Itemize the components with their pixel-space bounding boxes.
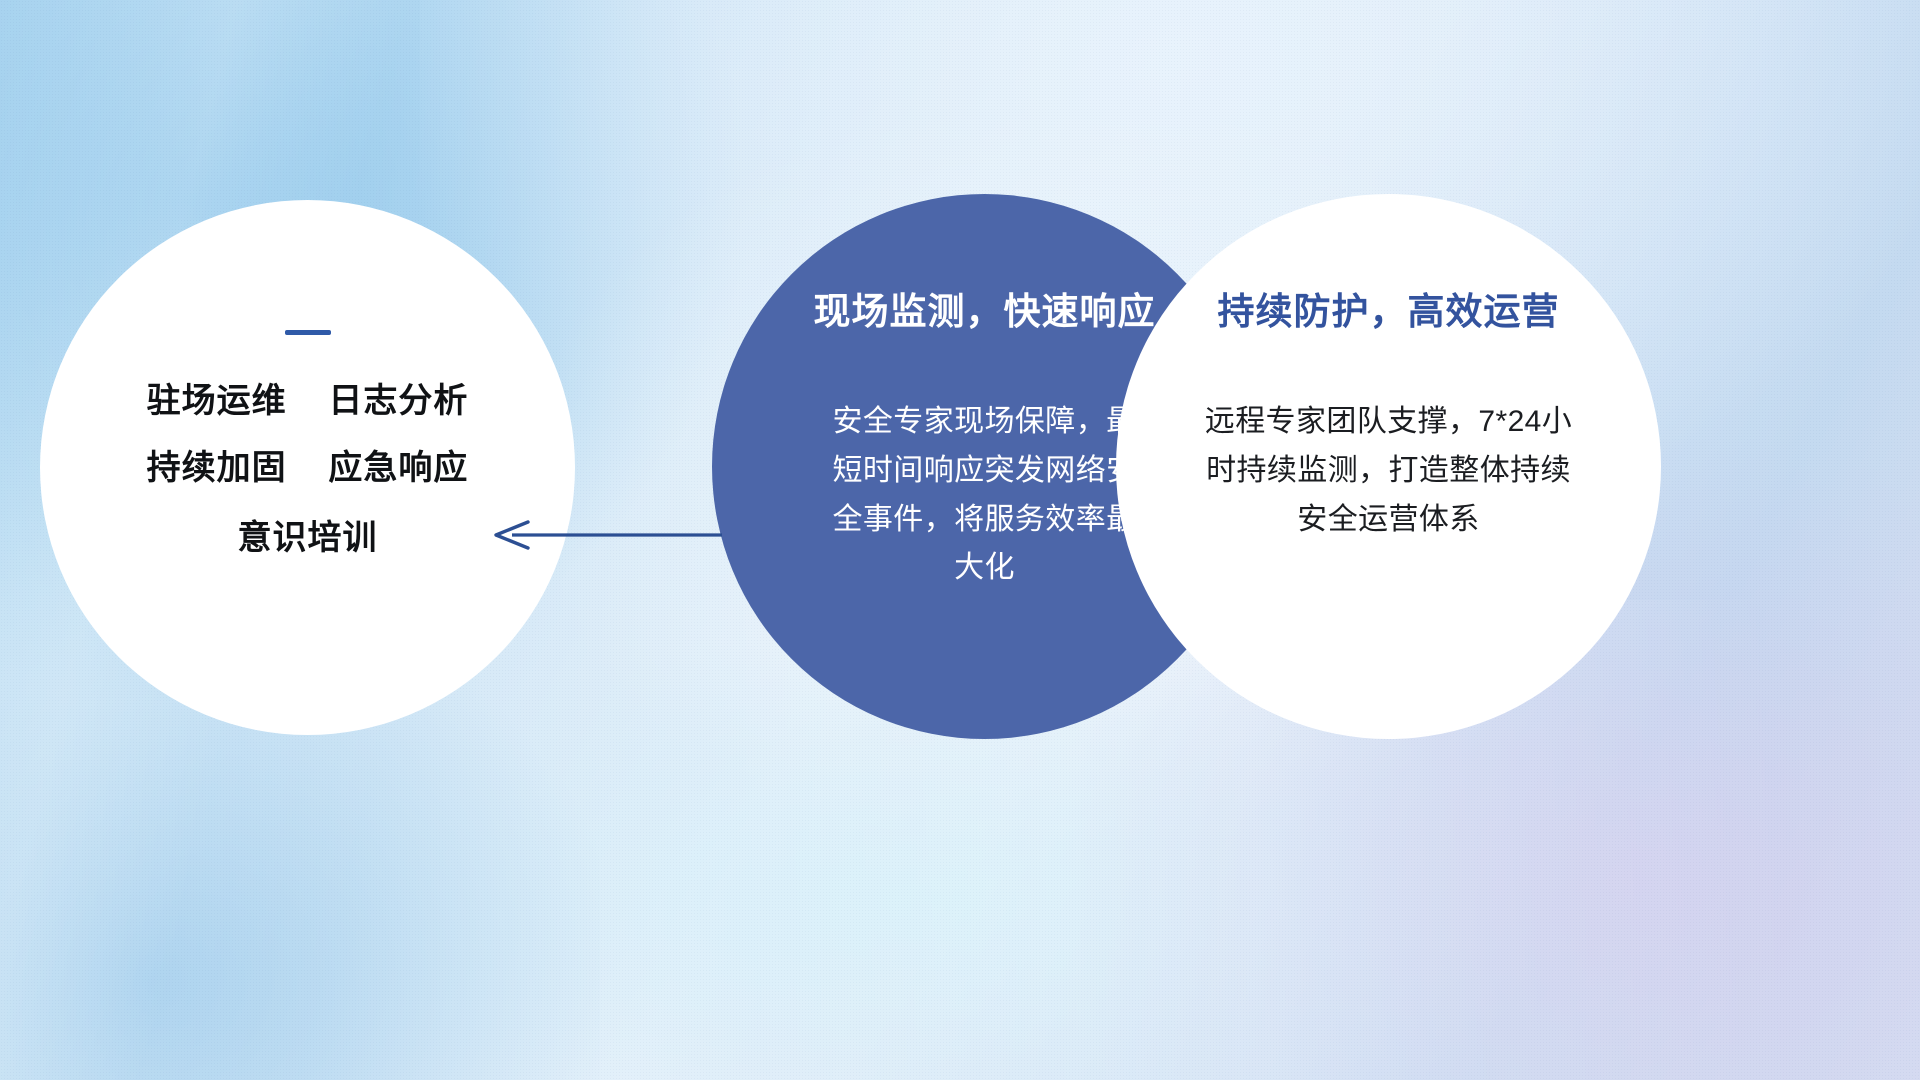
capability-line-3: 意识培训 [238,520,378,557]
feature-right-title: 持续防护，高效运营 [1218,290,1560,334]
flow-arrow-icon [486,520,722,550]
slide-canvas: 驻场运维 日志分析 持续加固 应急响应 意识培训 现场监测，快速响应 安全专家现… [0,0,1920,1080]
accent-dash-divider [285,330,331,335]
feature-right-body: 远程专家团队支撑，7*24小时持续监测，打造整体持续安全运营体系 [1199,398,1579,544]
capability-circle-left: 驻场运维 日志分析 持续加固 应急响应 意识培训 [40,200,575,735]
feature-middle-body: 安全专家现场保障，最短时间响应突发网络安全事件，将服务效率最大化 [820,398,1150,592]
capability-line-2: 持续加固 应急响应 [147,450,469,487]
feature-circle-right: 持续防护，高效运营 远程专家团队支撑，7*24小时持续监测，打造整体持续安全运营… [1116,194,1661,739]
feature-middle-title: 现场监测，快速响应 [814,290,1156,334]
capability-line-1: 驻场运维 日志分析 [147,383,469,420]
